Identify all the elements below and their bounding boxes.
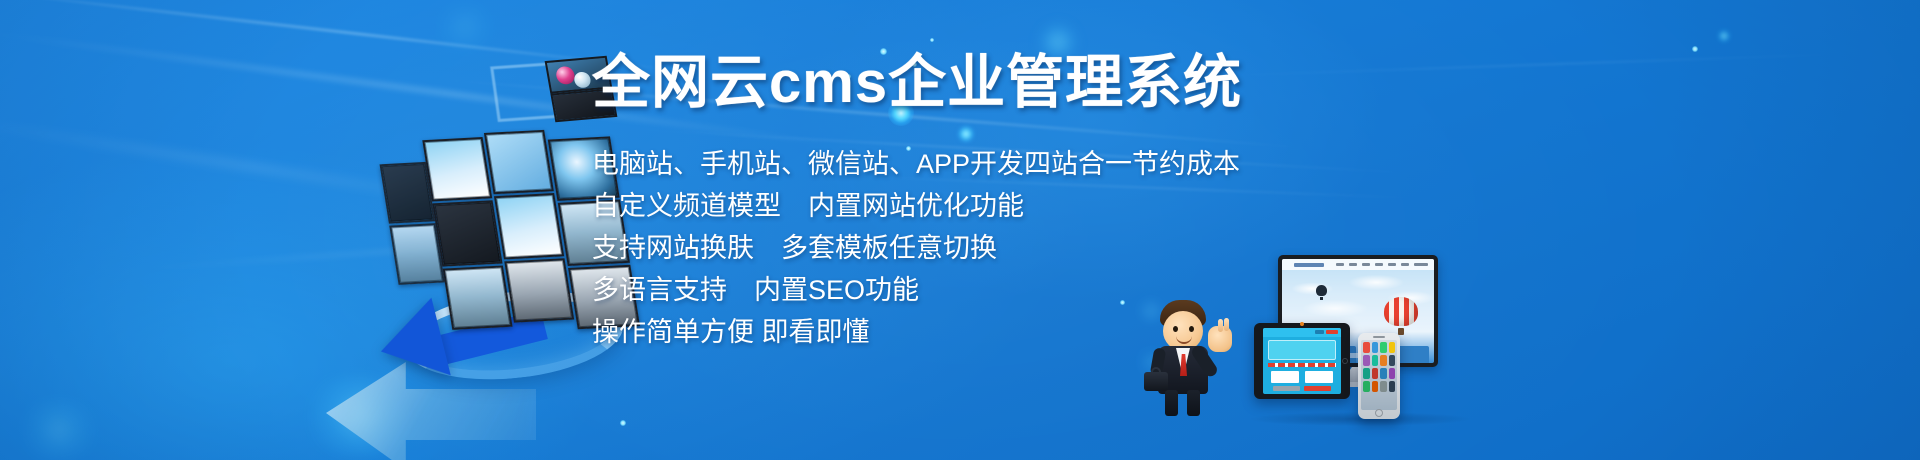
site-menu-item (1349, 263, 1357, 266)
mascot-finger (1224, 318, 1229, 331)
phone-app-icon (1380, 381, 1387, 392)
briefcase-icon (1144, 372, 1168, 391)
mascot-eye-right (1189, 326, 1194, 332)
device-mockups (1254, 255, 1464, 425)
cube-tile (432, 200, 502, 266)
cube-tile (484, 130, 554, 194)
mascot-finger (1218, 319, 1223, 332)
site-menu-item (1401, 263, 1409, 266)
tablet-thumbnail (1305, 371, 1333, 383)
tablet-screen (1263, 328, 1341, 394)
balloon-basket (1398, 328, 1404, 335)
phone-screen (1361, 340, 1397, 410)
tablet-device (1254, 323, 1350, 399)
feature-item: 自定义频道模型 内置网站优化功能 (592, 185, 1352, 227)
phone-app-icon (1389, 355, 1396, 366)
phone-app-icon (1363, 355, 1370, 366)
phone-app-icon (1389, 381, 1396, 392)
site-card (1397, 346, 1430, 363)
phone-speaker (1373, 336, 1385, 338)
mascot-eye-left (1173, 326, 1178, 332)
phone-app-icon (1380, 355, 1387, 366)
balloon-basket (1320, 297, 1323, 300)
mascot-leg-right (1187, 390, 1200, 416)
site-logo (1294, 263, 1324, 267)
tablet-home-button (1342, 358, 1348, 364)
site-menu-item (1388, 263, 1396, 266)
balloon-envelope (1384, 297, 1418, 326)
tablet-button (1315, 330, 1324, 334)
site-navbar (1282, 259, 1434, 270)
hot-air-balloon-icon (1384, 297, 1418, 335)
tablet-camera-icon (1300, 322, 1304, 326)
phone-app-icon (1380, 368, 1387, 379)
tablet-footer-button-primary (1304, 386, 1331, 391)
cube-tile (389, 223, 445, 285)
tablet-toolbar (1268, 363, 1336, 367)
feature-item: 支持网站换肤 多套模板任意切换 (592, 227, 1352, 269)
tablet-footer-button (1273, 386, 1300, 391)
tablet-thumbnail (1271, 371, 1299, 383)
phone-app-icon (1363, 368, 1370, 379)
phone-app-icon (1363, 342, 1370, 353)
cube-tile (443, 265, 513, 329)
balloon-envelope (1316, 285, 1327, 296)
promo-banner: 全网云cms企业管理系统 电脑站、手机站、微信站、APP开发四站合一节约成本 自… (0, 0, 1920, 460)
tablet-content-panel (1268, 340, 1336, 360)
site-menu-item (1362, 263, 1370, 266)
cube-tile (504, 258, 574, 322)
smartphone-device (1358, 333, 1400, 419)
tablet-app-header (1263, 328, 1341, 337)
site-menu-item (1336, 263, 1344, 266)
feature-item: 电脑站、手机站、微信站、APP开发四站合一节约成本 (592, 143, 1352, 185)
site-menu-item (1414, 263, 1428, 266)
phone-app-icon (1372, 381, 1379, 392)
phone-app-icon (1372, 355, 1379, 366)
tablet-header-buttons (1315, 330, 1338, 334)
phone-app-icon (1389, 368, 1396, 379)
site-menu (1336, 263, 1428, 266)
phone-app-icon (1372, 342, 1379, 353)
phone-app-icon (1372, 368, 1379, 379)
page-title: 全网云cms企业管理系统 (592, 52, 1352, 115)
phone-app-icon (1380, 342, 1387, 353)
phone-home-button (1375, 409, 1383, 417)
tablet-thumbnails (1271, 371, 1333, 383)
phone-app-icon (1389, 342, 1396, 353)
mascot-leg-left (1165, 390, 1178, 416)
tablet-footer-buttons (1273, 386, 1331, 391)
businessman-mascot (1132, 300, 1242, 418)
cube-tile (380, 162, 436, 224)
small-balloon-icon (1316, 285, 1327, 300)
phone-app-icon (1363, 381, 1370, 392)
tablet-button-primary (1326, 330, 1338, 334)
site-menu-item (1375, 263, 1383, 266)
cube-tile (494, 193, 564, 259)
cube-tile (422, 137, 492, 201)
